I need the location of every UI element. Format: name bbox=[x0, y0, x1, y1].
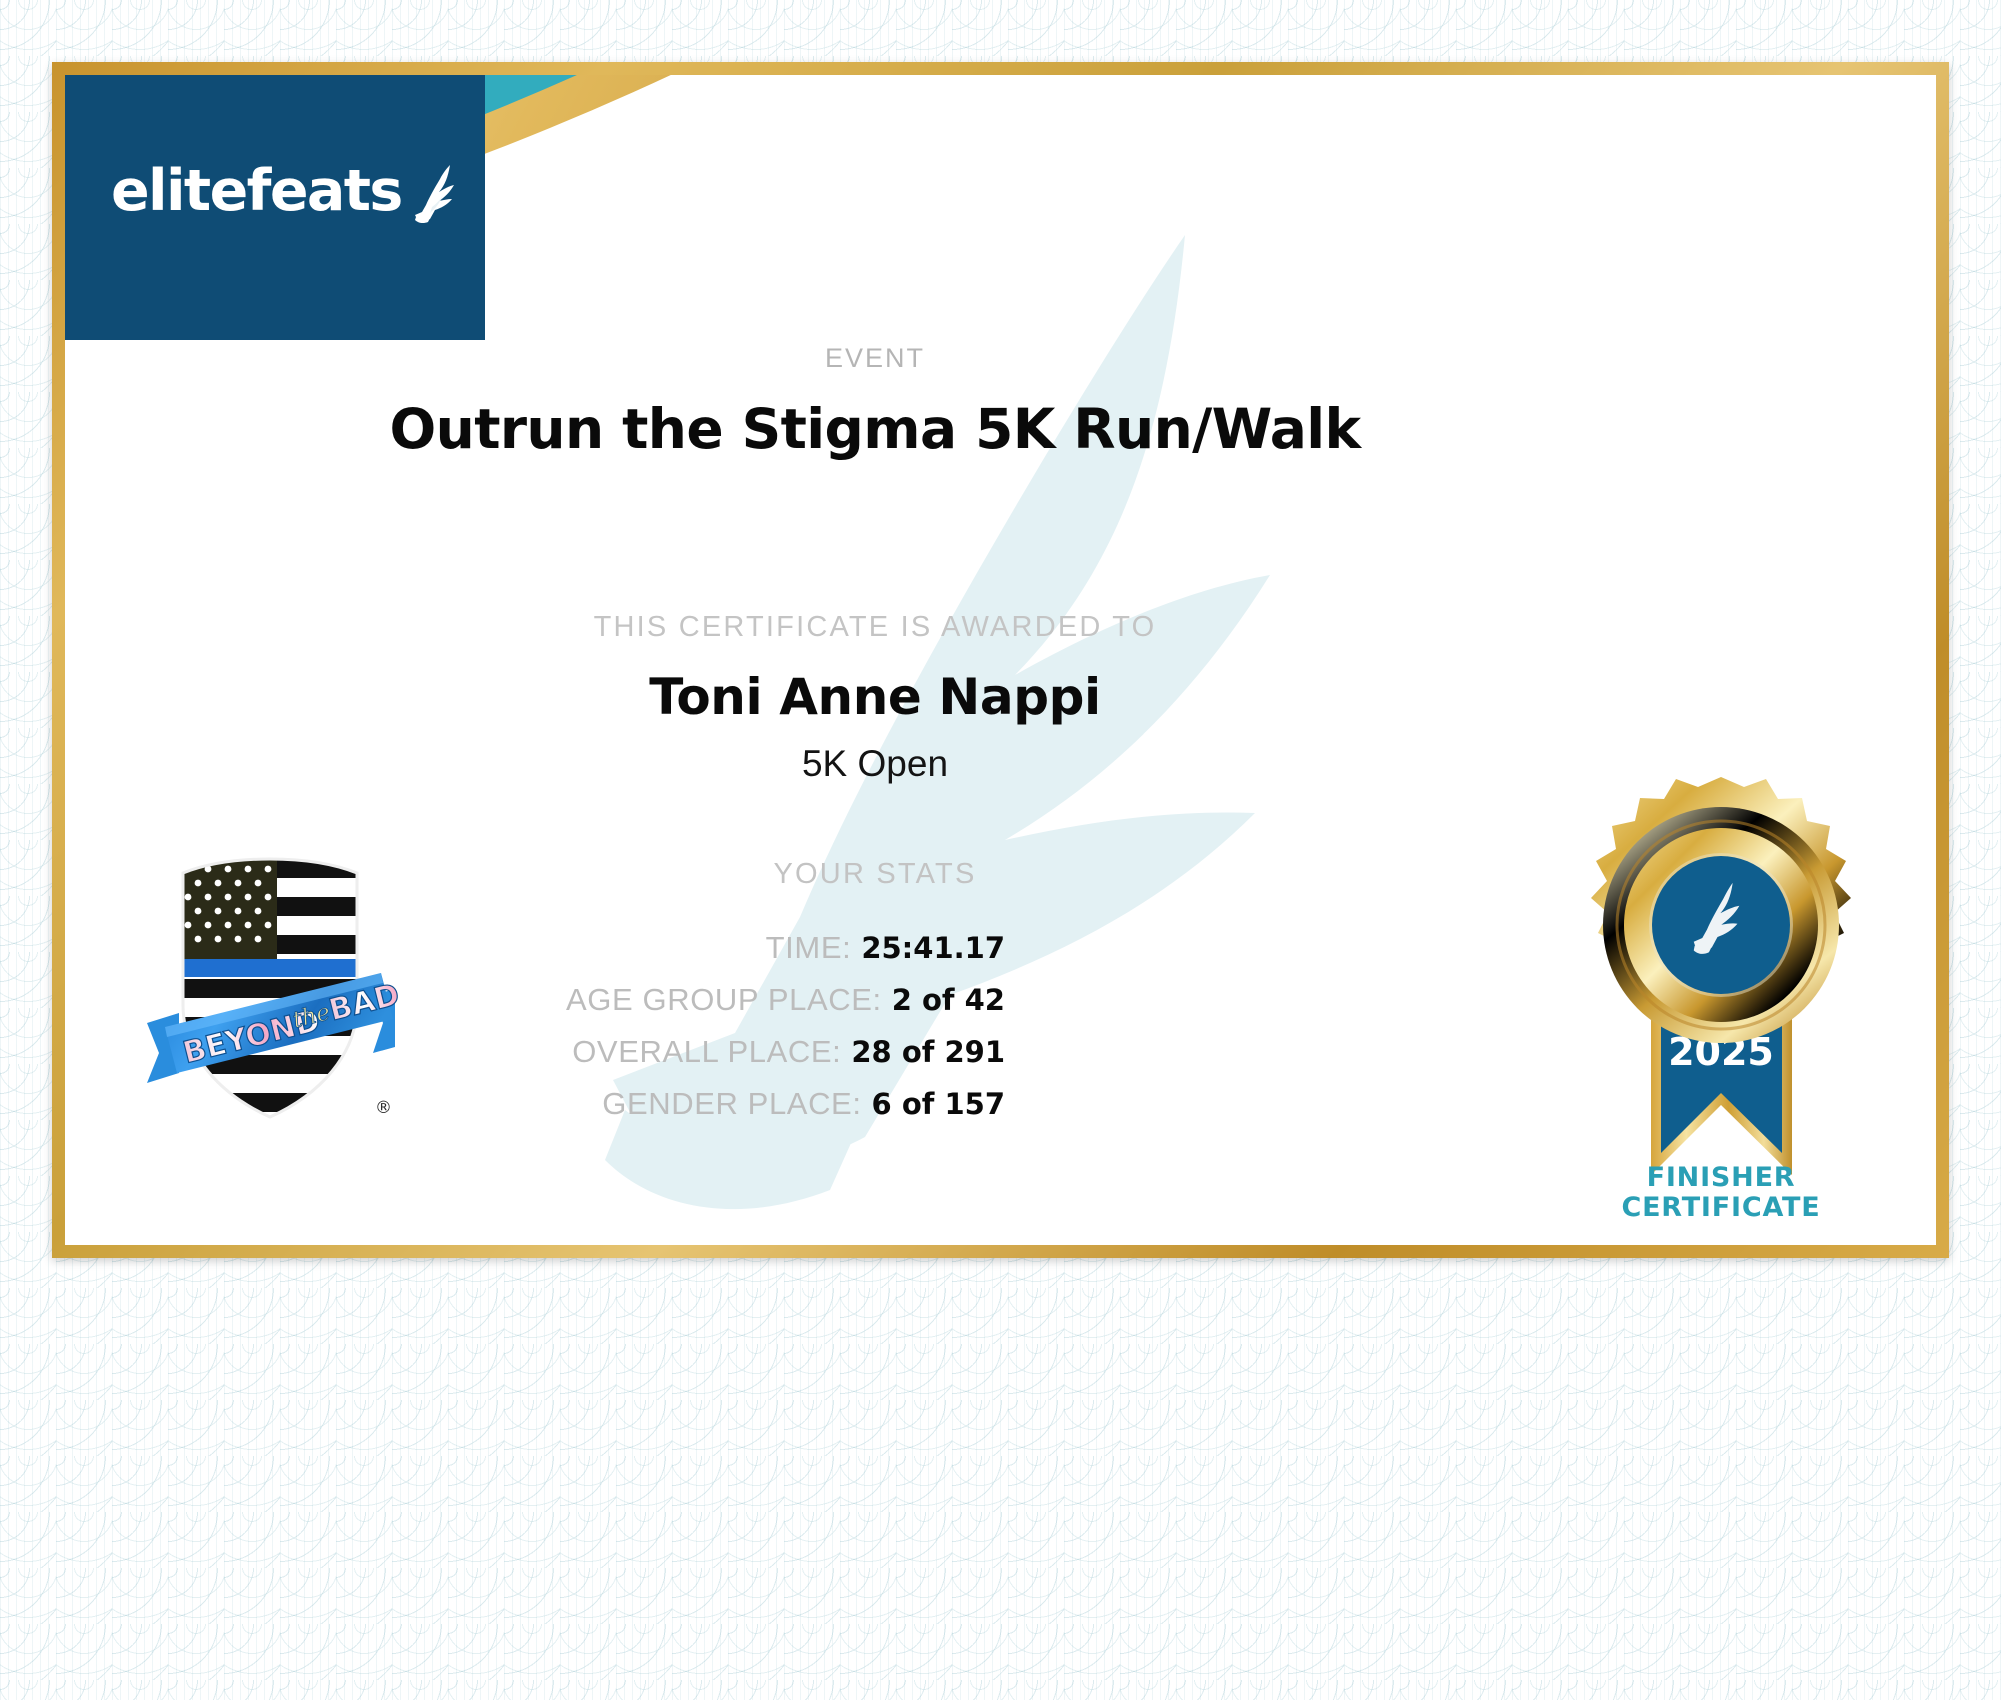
stat-row-overall-place: OVERALL PLACE: 28 of 291 bbox=[405, 1034, 1005, 1070]
stat-label: OVERALL PLACE: bbox=[572, 1034, 841, 1070]
stats-list: TIME: 25:41.17 AGE GROUP PLACE: 2 of 42 … bbox=[405, 930, 1005, 1138]
certificate-page: elitefeats bbox=[0, 0, 2001, 1700]
event-label: EVENT bbox=[65, 343, 1685, 374]
winged-foot-icon bbox=[404, 163, 472, 230]
event-title: Outrun the Stigma 5K Run/Walk bbox=[65, 397, 1685, 461]
stat-value: 25:41.17 bbox=[861, 931, 1005, 965]
finisher-medal: 2025 bbox=[1589, 775, 1854, 1195]
medal-caption-line2: CERTIFICATE bbox=[1576, 1193, 1866, 1223]
stat-label: TIME: bbox=[766, 930, 852, 966]
stat-label: AGE GROUP PLACE: bbox=[566, 982, 882, 1018]
stat-row-age-group-place: AGE GROUP PLACE: 2 of 42 bbox=[405, 982, 1005, 1018]
certificate-body: elitefeats bbox=[65, 75, 1936, 1245]
stat-value: 2 of 42 bbox=[892, 983, 1005, 1017]
medal-caption: FINISHER CERTIFICATE bbox=[1576, 1163, 1866, 1223]
recipient-name: Toni Anne Nappi bbox=[65, 668, 1685, 726]
division-name: 5K Open bbox=[65, 743, 1685, 785]
stat-row-time: TIME: 25:41.17 bbox=[405, 930, 1005, 966]
certificate-content: EVENT Outrun the Stigma 5K Run/Walk THIS… bbox=[65, 75, 1936, 1245]
stat-label: GENDER PLACE: bbox=[602, 1086, 861, 1122]
awarded-to-label: THIS CERTIFICATE IS AWARDED TO bbox=[65, 611, 1685, 644]
stat-value: 6 of 157 bbox=[872, 1087, 1005, 1121]
beyond-the-badge-logo: BEYOND the BADGE ® bbox=[143, 855, 398, 1130]
gold-border-frame: elitefeats bbox=[52, 62, 1949, 1258]
stat-value: 28 of 291 bbox=[851, 1035, 1005, 1069]
stat-row-gender-place: GENDER PLACE: 6 of 157 bbox=[405, 1086, 1005, 1122]
elitefeats-logo: elitefeats bbox=[111, 163, 472, 220]
medal-caption-line1: FINISHER bbox=[1576, 1163, 1866, 1193]
logo-wordmark: elitefeats bbox=[111, 163, 402, 220]
registered-trademark-symbol: ® bbox=[375, 1098, 392, 1118]
